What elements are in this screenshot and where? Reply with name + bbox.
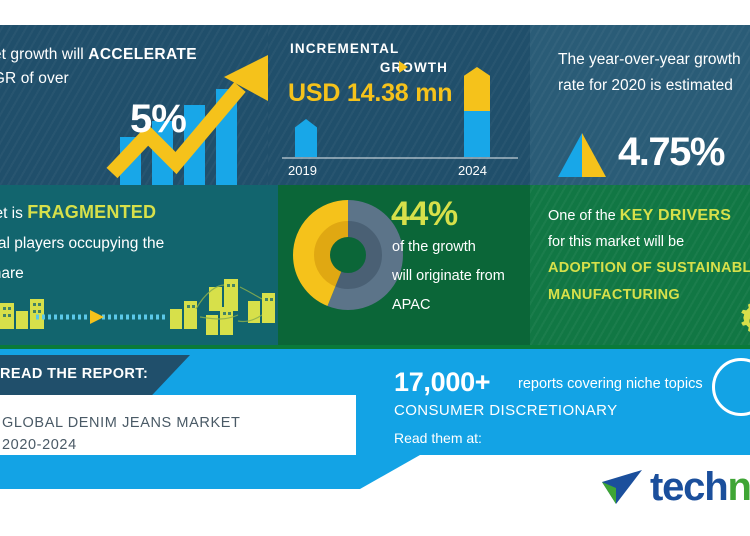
logo-part-tech: tech: [650, 465, 727, 509]
bar-2024-increment: [464, 67, 490, 111]
apac-line2: will originate from: [392, 268, 505, 284]
report-category: CONSUMER DISCRETIONARY: [394, 402, 618, 419]
cagr-value: 5%: [130, 97, 186, 142]
panel-incremental-growth: INCREMENTAL GROWTH USD 14.38 mn 2019 202…: [268, 25, 530, 185]
fragmentation-line1-pre: market is: [0, 205, 27, 222]
infographic-root: market growth will ACCELERATE a CAGR of …: [0, 0, 750, 536]
driver-line1-pre: One of the: [548, 208, 620, 224]
logo-part-navi: navi: [727, 465, 750, 509]
cagr-line2: a CAGR of over: [0, 70, 69, 87]
read-them-at-label: Read them at:: [394, 430, 482, 446]
cagr-line1-pre: market growth will: [0, 46, 88, 63]
driver-line2: for this market will be: [548, 234, 684, 250]
incremental-growth-title: INCREMENTAL GROWTH: [290, 39, 470, 77]
logo-band: technavi: [0, 455, 750, 536]
key-drivers-description: One of the KEY DRIVERS for this market w…: [548, 203, 750, 309]
bar-label-2019: 2019: [288, 163, 317, 178]
panel-cagr: market growth will ACCELERATE a CAGR of …: [0, 25, 268, 185]
green-divider: [0, 345, 750, 349]
driver-line4: MANUFACTURING: [548, 282, 750, 309]
driver-line1-strong: KEY DRIVERS: [620, 207, 731, 224]
report-title: GLOBAL DENIM JEANS MARKET: [2, 415, 240, 431]
report-period: 2020-2024: [2, 437, 77, 453]
cagr-line1-strong: ACCELERATE: [88, 46, 197, 63]
incremental-title-line1: INCREMENTAL: [290, 41, 399, 56]
yoy-line2: rate for 2020 is estimated: [558, 77, 733, 94]
report-count-suffix: reports covering niche topics: [518, 376, 703, 392]
row-key-metrics: market growth will ACCELERATE a CAGR of …: [0, 25, 750, 185]
report-count: 17,000+: [394, 367, 490, 398]
panel-apac-share: 44% of the growth will originate from AP…: [278, 185, 530, 345]
fragmentation-line2: several players occupying the: [0, 235, 164, 252]
incremental-growth-value: USD 14.38 mn: [288, 79, 452, 108]
gear-icon: [736, 301, 750, 341]
panel-yoy-growth: The year-over-year growth rate for 2020 …: [530, 25, 750, 185]
donut-chart-icon: [288, 193, 408, 318]
cta-band: READ THE REPORT: GLOBAL DENIM JEANS MARK…: [0, 345, 750, 473]
apac-line3: APAC: [392, 297, 430, 313]
yoy-value: 4.75%: [618, 130, 724, 175]
technavio-arrow-icon: [600, 468, 644, 508]
yoy-line1: The year-over-year growth: [558, 51, 741, 68]
read-the-report-label: READ THE REPORT:: [0, 366, 148, 382]
bar-2019: [295, 119, 317, 157]
triangle-up-icon: [558, 133, 606, 177]
panel-fragmentation: market is FRAGMENTED several players occ…: [0, 185, 278, 345]
bar-chart-axis: [282, 157, 518, 159]
yoy-description: The year-over-year growth rate for 2020 …: [558, 47, 750, 99]
panel-key-drivers: One of the KEY DRIVERS for this market w…: [530, 185, 750, 345]
technavio-logo[interactable]: technavi: [600, 465, 750, 510]
row-market-insights: market is FRAGMENTED several players occ…: [0, 185, 750, 345]
fragmentation-line1-strong: FRAGMENTED: [27, 202, 156, 222]
bar-2024-base: [464, 111, 490, 157]
city-buildings-network-icon: [0, 275, 278, 337]
play-caret-icon: [399, 61, 408, 73]
technavio-wordmark: technavi: [650, 465, 750, 510]
apac-description: of the growth will originate from APAC: [392, 233, 530, 320]
apac-value: 44%: [391, 195, 458, 234]
apac-line1: of the growth: [392, 239, 476, 255]
blue-wedge: [0, 455, 420, 489]
driver-line3: ADOPTION OF SUSTAINABLE: [548, 255, 750, 282]
cagr-description: market growth will ACCELERATE a CAGR of …: [0, 43, 228, 91]
bar-label-2024: 2024: [458, 163, 487, 178]
incremental-title-line2: GROWTH: [290, 58, 470, 77]
